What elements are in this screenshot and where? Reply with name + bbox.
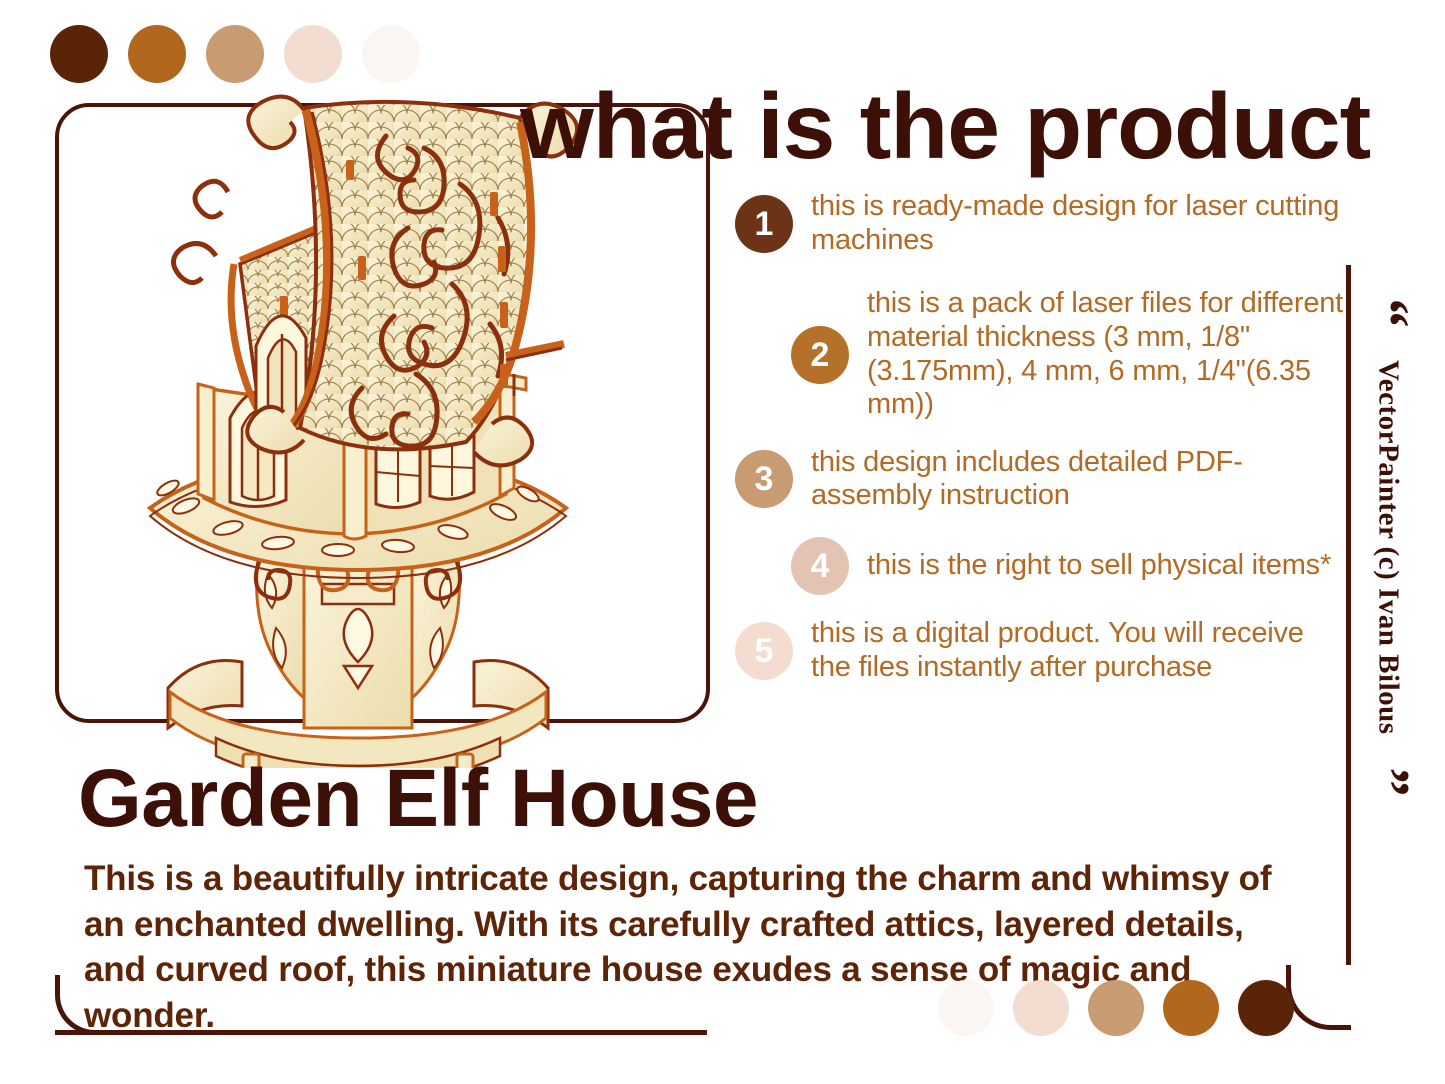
feature-text: this is ready-made design for laser cutt… [811, 190, 1345, 257]
poster-canvas: what is the product 1 this is ready-made… [0, 0, 1445, 1084]
page-title: what is the product [520, 80, 1418, 173]
garden-elf-house-illustration [108, 88, 608, 768]
palette-swatch [362, 25, 420, 83]
open-quote-icon: “ [1365, 299, 1411, 328]
feature-item: 5 this is a digital product. You will re… [735, 617, 1345, 684]
palette-swatch [1013, 980, 1069, 1036]
palette-swatches-bottom [938, 980, 1313, 1036]
palette-swatch [1163, 980, 1219, 1036]
feature-item: 2 this is a pack of laser files for diff… [791, 287, 1345, 422]
palette-swatch [1238, 980, 1294, 1036]
palette-swatch [284, 25, 342, 83]
feature-number-badge: 3 [735, 450, 793, 508]
close-quote-icon: ” [1365, 767, 1411, 796]
feature-number-badge: 1 [735, 195, 793, 253]
feature-text: this is a pack of laser files for differ… [867, 287, 1345, 422]
palette-swatches-top [50, 25, 440, 83]
feature-text: this is a digital product. You will rece… [811, 617, 1345, 684]
palette-swatch [938, 980, 994, 1036]
feature-item: 3 this design includes detailed PDF-asse… [735, 446, 1345, 513]
watermark: “ VectorPainter (c) Ivan Bilous ” [1358, 290, 1418, 990]
watermark-text: VectorPainter (c) Ivan Bilous [1372, 360, 1405, 735]
feature-number-badge: 5 [735, 622, 793, 680]
feature-item: 1 this is ready-made design for laser cu… [735, 190, 1345, 257]
palette-swatch [1088, 980, 1144, 1036]
feature-number-badge: 4 [791, 537, 849, 595]
feature-text: this design includes detailed PDF-assemb… [811, 446, 1345, 513]
feature-item: 4 this is the right to sell physical ite… [791, 537, 1345, 595]
palette-swatch [206, 25, 264, 83]
right-vertical-rule [1346, 265, 1351, 965]
house-base [168, 540, 548, 768]
product-title: Garden Elf House [78, 758, 758, 840]
palette-swatch [128, 25, 186, 83]
feature-number-badge: 2 [791, 326, 849, 384]
feature-list: 1 this is ready-made design for laser cu… [735, 190, 1345, 684]
feature-text: this is the right to sell physical items… [867, 549, 1331, 583]
palette-swatch [50, 25, 108, 83]
